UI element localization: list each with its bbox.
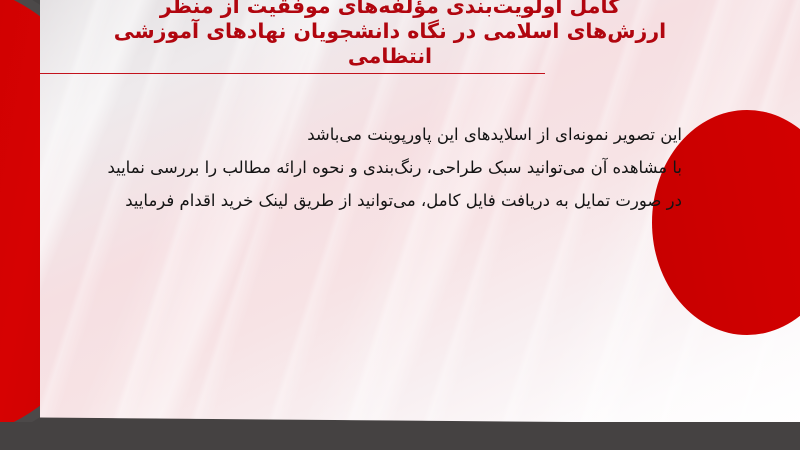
bottom-dark-band	[0, 422, 800, 450]
title-line-3: انتظامی	[90, 44, 690, 69]
body-line-1: این تصویر نمونه‌ای از اسلایدهای این پاور…	[122, 118, 682, 151]
title-divider	[40, 73, 545, 74]
body-line-3: در صورت تمایل به دریافت فایل کامل، می‌تو…	[122, 184, 682, 217]
slide-title: کامل اولویت‌بندی مؤلفه‌های موفقیت از منظ…	[90, 0, 690, 69]
body-line-2: با مشاهده آن می‌توانید سبک طراحی، رنگ‌بن…	[122, 151, 682, 184]
title-line-1: کامل اولویت‌بندی مؤلفه‌های موفقیت از منظ…	[90, 0, 690, 19]
presentation-slide: کامل اولویت‌بندی مؤلفه‌های موفقیت از منظ…	[0, 0, 800, 450]
title-line-2: ارزش‌های اسلامی در نگاه دانشجویان نهادها…	[90, 19, 690, 44]
slide-body-text: این تصویر نمونه‌ای از اسلایدهای این پاور…	[122, 118, 682, 217]
